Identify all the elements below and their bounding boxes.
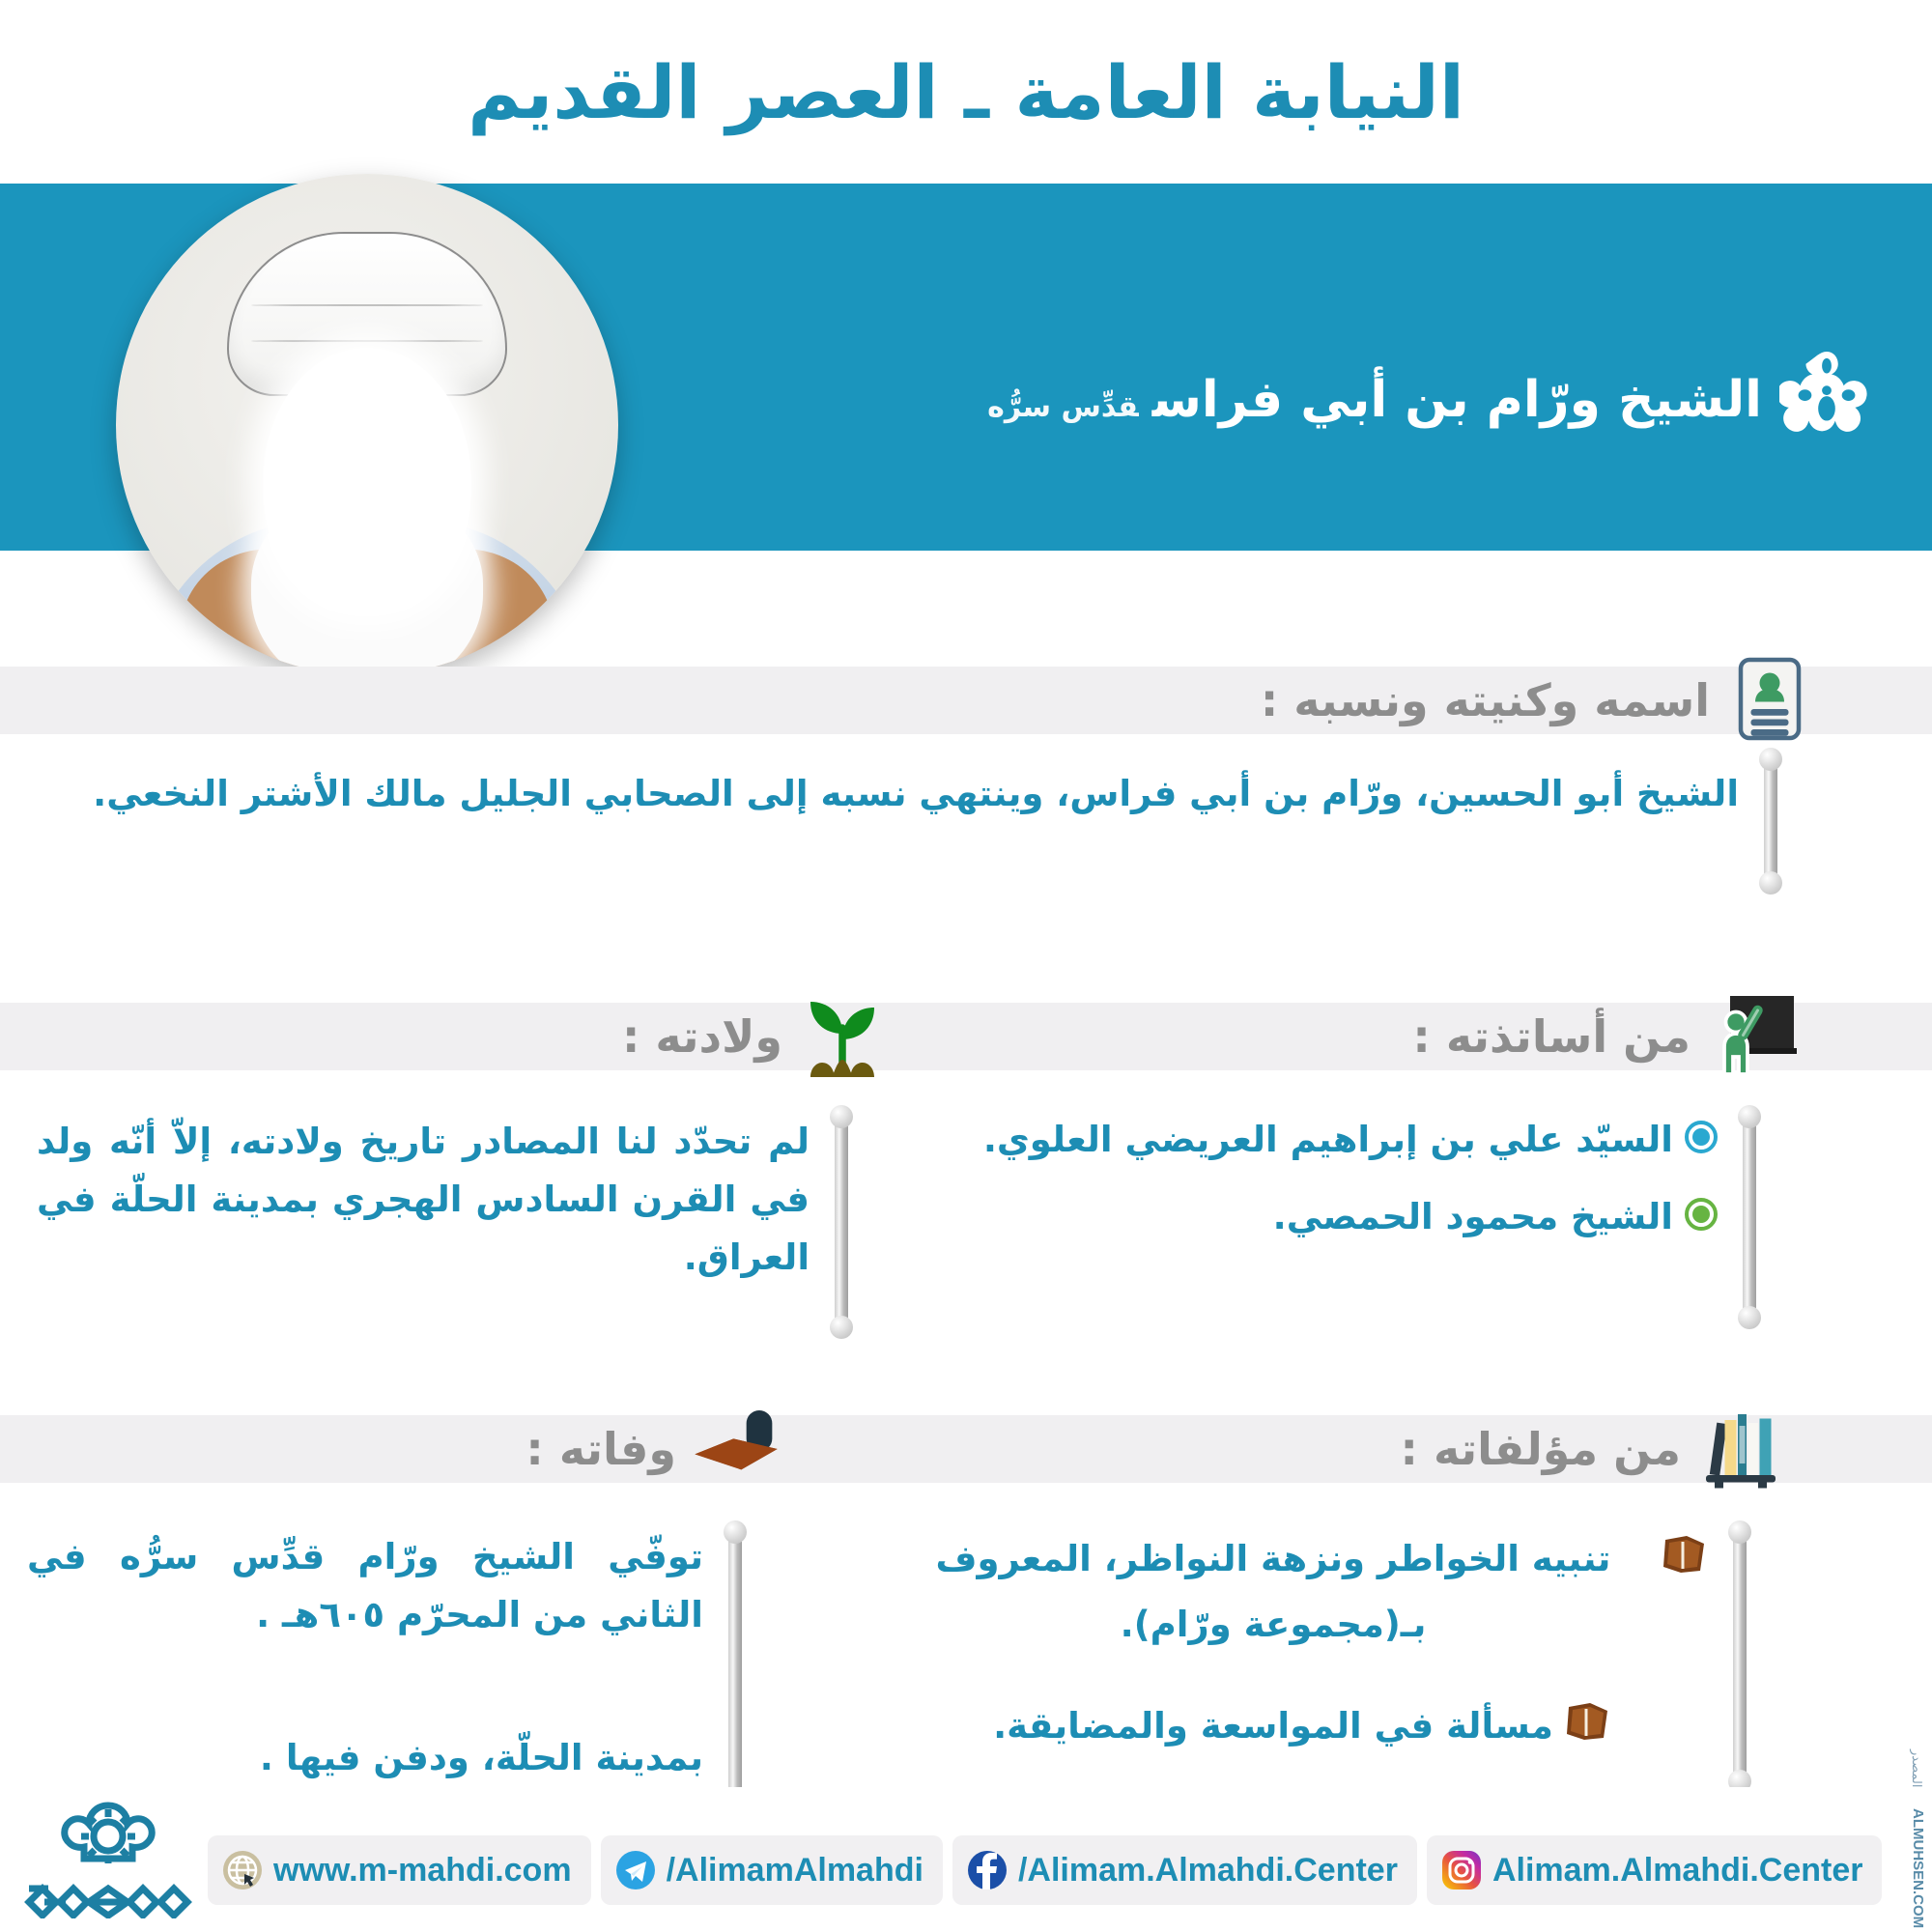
social-links: www.m-mahdi.com /AlimamAlmahdi /Alimam.A… (208, 1835, 1882, 1905)
works-section-title: من مؤلفاته : (1401, 1423, 1681, 1475)
death-section-header: وفاته : (526, 1415, 782, 1483)
book-icon (1565, 1701, 1611, 1740)
teachers-list: السيّد علي بن إبراهيم العريضي العلوي. ال… (916, 1111, 1718, 1265)
book-icon (1662, 1534, 1708, 1573)
death-section-title: وفاته : (526, 1423, 676, 1475)
works-section-pole (1733, 1536, 1747, 1777)
source-watermark: المصدر (1910, 1749, 1924, 1787)
telegram-icon (614, 1849, 657, 1891)
work-title: تنبيه الخواطر ونزهة النواظر، المعروف بـ(… (896, 1526, 1650, 1659)
teachers-section-title: من أساتذته : (1412, 1010, 1690, 1063)
facebook-link[interactable]: /Alimam.Almahdi.Center (952, 1835, 1417, 1905)
page-title-bar: النيابة العامة ـ العصر القديم (0, 0, 1932, 184)
birth-section-pole (835, 1121, 848, 1323)
birth-section-title: ولادته : (622, 1010, 782, 1063)
name-section-pole (1764, 763, 1777, 879)
al-imam-al-mahdi-center-logo (21, 1798, 195, 1918)
website-label: www.m-mahdi.com (273, 1852, 572, 1889)
page-title: النيابة العامة ـ العصر القديم (468, 49, 1464, 135)
source-watermark-site: ALMUHSEN.COM (1910, 1808, 1926, 1928)
bullet-icon (1685, 1121, 1718, 1153)
facebook-label: /Alimam.Almahdi.Center (1018, 1852, 1398, 1889)
face-blank (264, 348, 471, 613)
teacher-blackboard-icon (1704, 990, 1797, 1083)
infographic-page: النيابة العامة ـ العصر القديم (0, 0, 1932, 1932)
instagram-icon (1440, 1849, 1483, 1891)
birth-section-body: لم تحدّد لنا المصادر تاريخ ولادته، إلاّ … (37, 1113, 810, 1287)
footer-bar: www.m-mahdi.com /AlimamAlmahdi /Alimam.A… (0, 1787, 1932, 1932)
instagram-label: Alimam.Almahdi.Center (1492, 1852, 1863, 1889)
teacher-name: السيّد علي بن إبراهيم العريضي العلوي. (983, 1111, 1673, 1169)
work-title: مسألة في المواسعة والمضايقة. (993, 1693, 1553, 1759)
teacher-name: الشيخ محمود الحمصي. (1273, 1188, 1673, 1246)
person-name-text: الشيخ ورّام بن أبي فراس (1152, 371, 1762, 429)
list-item: السيّد علي بن إبراهيم العريضي العلوي. (916, 1111, 1718, 1169)
person-honorific: قدِّس سرُّه (987, 390, 1139, 424)
person-nameplate: الشيخ ورّام بن أبي فراسقدِّس سرُّه (987, 350, 1874, 450)
birth-section-header: ولادته : (622, 1003, 889, 1070)
scholar-portrait (116, 174, 618, 676)
globe-icon (221, 1849, 264, 1891)
works-section-header: من مؤلفاته : (1401, 1415, 1787, 1483)
person-name: الشيخ ورّام بن أبي فراسقدِّس سرُّه (987, 371, 1762, 429)
hero-banner: الشيخ ورّام بن أبي فراسقدِّس سرُّه (0, 184, 1932, 551)
grave-icon (690, 1403, 782, 1495)
works-list: تنبيه الخواطر ونزهة النواظر، المعروف بـ(… (896, 1526, 1708, 1778)
death-section-pole (728, 1536, 742, 1806)
telegram-link[interactable]: /AlimamAlmahdi (601, 1835, 943, 1905)
instagram-link[interactable]: Alimam.Almahdi.Center (1427, 1835, 1883, 1905)
death-section-line2: بمدينة الحلّة، ودفن فيها . (27, 1729, 703, 1787)
bookshelf-icon (1694, 1403, 1787, 1495)
telegram-label: /AlimamAlmahdi (667, 1852, 923, 1889)
name-section-title: اسمه وكنيته ونسبه : (1261, 674, 1710, 726)
list-item: تنبيه الخواطر ونزهة النواظر، المعروف بـ(… (896, 1526, 1708, 1659)
list-item: مسألة في المواسعة والمضايقة. (896, 1693, 1708, 1759)
bullet-icon (1685, 1198, 1718, 1231)
name-section-body: الشيخ أبو الحسين، ورّام بن أبي فراس، وين… (77, 765, 1739, 823)
id-card-icon (1723, 654, 1816, 747)
floral-ornament-icon (1779, 350, 1874, 450)
website-link[interactable]: www.m-mahdi.com (208, 1835, 591, 1905)
teachers-section-header: من أساتذته : (1412, 1003, 1797, 1070)
teachers-section-pole (1743, 1121, 1756, 1314)
death-section-line1: توفّي الشيخ ورّام قدِّس سرُّه في الثاني … (27, 1528, 703, 1644)
name-section-header: اسمه وكنيته ونسبه : (1261, 667, 1816, 734)
seedling-icon (796, 990, 889, 1083)
facebook-icon (966, 1849, 1009, 1891)
list-item: الشيخ محمود الحمصي. (916, 1188, 1718, 1246)
